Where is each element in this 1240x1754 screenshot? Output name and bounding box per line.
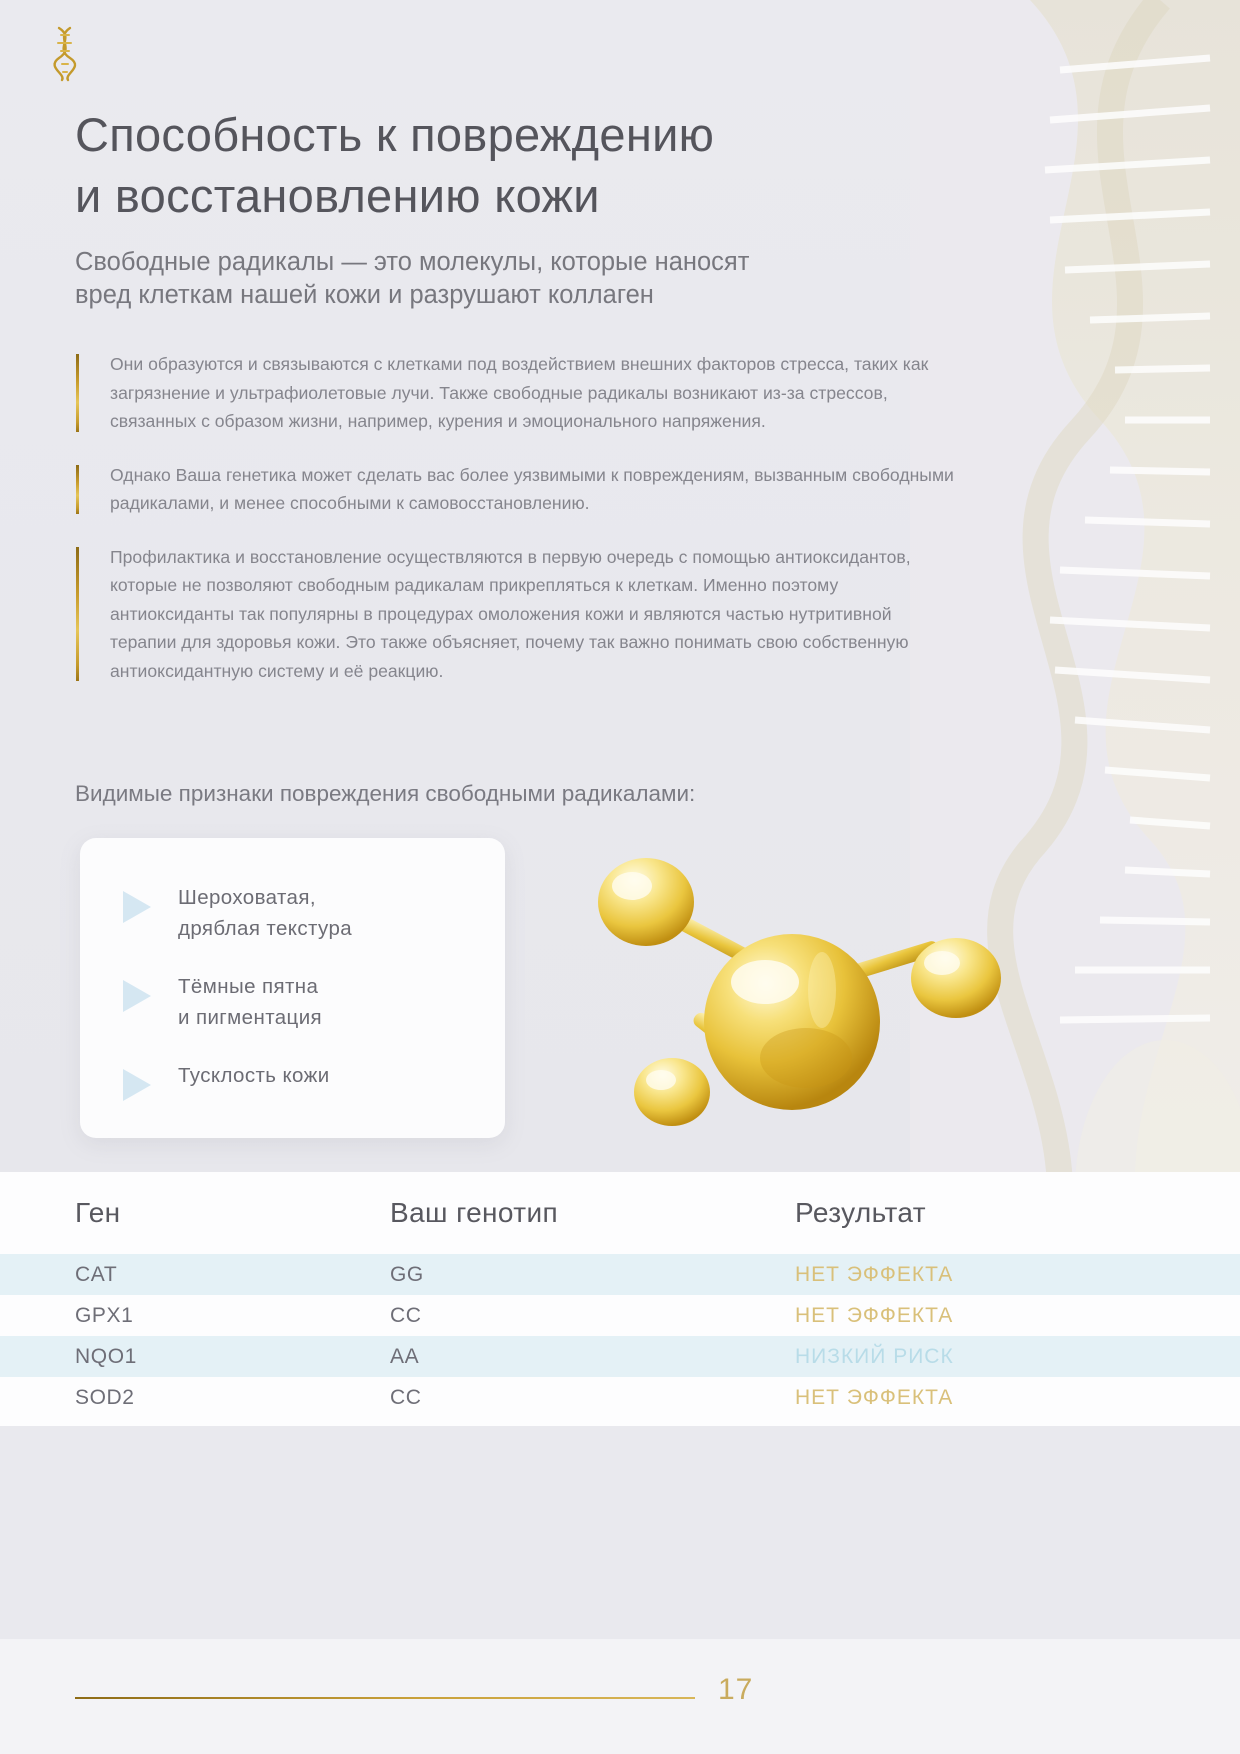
page-subtitle-line-1: Свободные радикалы — это молекулы, котор… — [75, 246, 955, 279]
list-item-label: Шероховатая, дряблая текстура — [178, 882, 352, 944]
page-subtitle: Свободные радикалы — это молекулы, котор… — [75, 246, 955, 312]
gold-molecule-illustration — [560, 830, 1020, 1160]
cell-result: НЕТ ЭФФЕКТА — [795, 1386, 1165, 1410]
list-item-label: Тусклость кожи — [178, 1060, 330, 1091]
cell-genotype: CC — [390, 1304, 795, 1328]
page-title-line-1: Способность к повреждению — [75, 104, 955, 165]
page-footer: 17 — [0, 1639, 1240, 1754]
footer-divider — [75, 1697, 695, 1699]
cell-genotype: GG — [390, 1263, 795, 1287]
triangle-right-icon — [123, 891, 151, 923]
cell-gene: CAT — [75, 1263, 390, 1287]
list-item: Шероховатая, дряблая текстура — [106, 882, 479, 944]
list-item-label: Тёмные пятна и пигментация — [178, 971, 322, 1033]
table-row: NQO1 AA НИЗКИЙ РИСК — [0, 1336, 1240, 1377]
report-page: Способность к повреждению и восстановлен… — [0, 0, 1240, 1754]
body-paragraphs: Они образуются и связываются с клетками … — [76, 350, 956, 710]
page-title-line-2: и восстановлению кожи — [75, 165, 955, 226]
paragraph-1: Они образуются и связываются с клетками … — [76, 350, 956, 436]
paragraph-2: Однако Ваша генетика может сделать вас б… — [76, 461, 956, 518]
visible-signs-card: Шероховатая, дряблая текстура Тёмные пят… — [80, 838, 505, 1138]
dna-helix-icon — [42, 24, 88, 82]
cell-result: НИЗКИЙ РИСК — [795, 1345, 1165, 1369]
cell-gene: NQO1 — [75, 1345, 390, 1369]
list-item: Тёмные пятна и пигментация — [106, 971, 479, 1033]
cell-result: НЕТ ЭФФЕКТА — [795, 1263, 1165, 1287]
paragraph-3: Профилактика и восстановление осуществля… — [76, 543, 956, 686]
triangle-right-icon — [123, 1069, 151, 1101]
list-item: Тусклость кожи — [106, 1060, 479, 1101]
page-title: Способность к повреждению и восстановлен… — [75, 104, 955, 226]
table-row: CAT GG НЕТ ЭФФЕКТА — [0, 1254, 1240, 1295]
genotype-table: Ген Ваш генотип Результат CAT GG НЕТ ЭФФ… — [0, 1172, 1240, 1426]
table-header-row: Ген Ваш генотип Результат — [0, 1172, 1240, 1254]
visible-signs-heading: Видимые признаки повреждения свободными … — [75, 779, 695, 809]
table-row: SOD2 CC НЕТ ЭФФЕКТА — [0, 1377, 1240, 1418]
column-header-gene: Ген — [75, 1197, 390, 1229]
column-header-genotype: Ваш генотип — [390, 1197, 795, 1229]
column-header-result: Результат — [795, 1197, 1165, 1229]
triangle-right-icon — [123, 980, 151, 1012]
cell-gene: GPX1 — [75, 1304, 390, 1328]
page-number: 17 — [718, 1673, 753, 1707]
cell-genotype: CC — [390, 1386, 795, 1410]
cell-genotype: AA — [390, 1345, 795, 1369]
cell-gene: SOD2 — [75, 1386, 390, 1410]
table-row: GPX1 CC НЕТ ЭФФЕКТА — [0, 1295, 1240, 1336]
cell-result: НЕТ ЭФФЕКТА — [795, 1304, 1165, 1328]
page-subtitle-line-2: вред клеткам нашей кожи и разрушают колл… — [75, 279, 955, 312]
